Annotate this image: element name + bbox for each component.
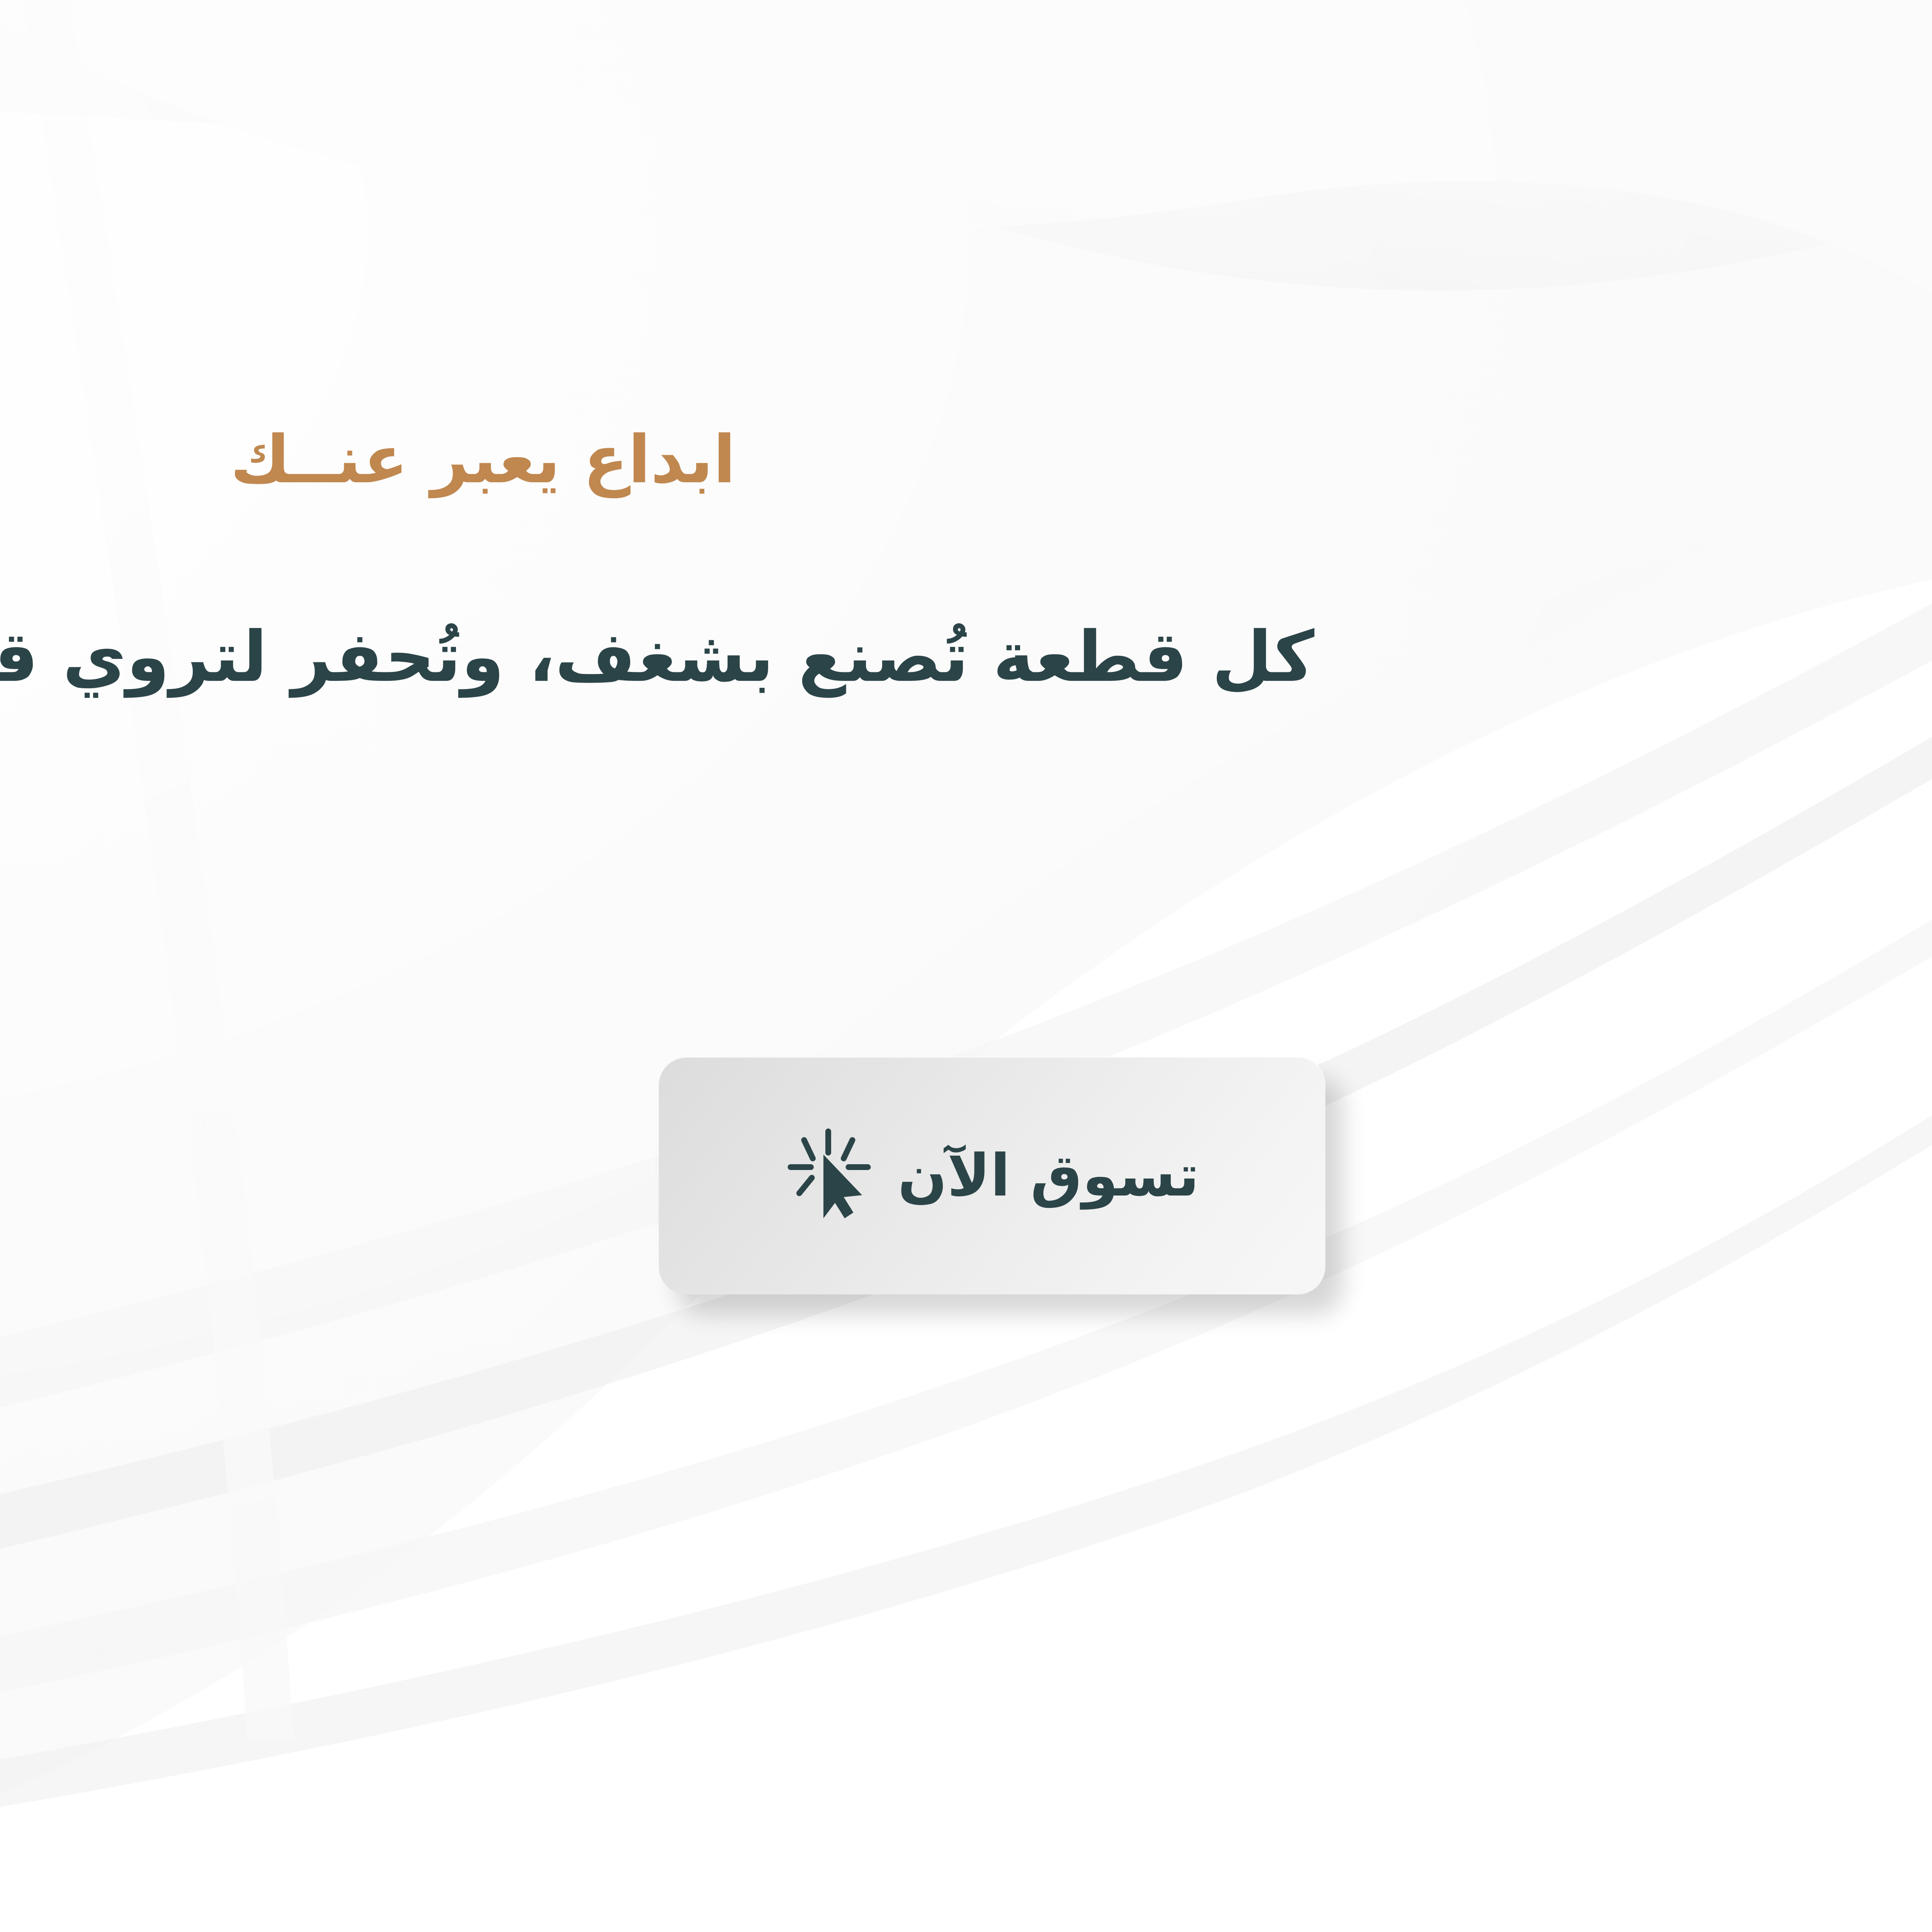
promo-banner: ابداع يعبر عنــك كل قطعة تُصنع بشغف، وتُ…	[0, 0, 1932, 1932]
page-title: ابداع يعبر عنــك	[0, 421, 1932, 499]
shop-now-label: تسوق الآن	[898, 1147, 1199, 1205]
page-subtitle: كل قطعة تُصنع بشغف، وتُحفر لتروي قصتك أن…	[0, 615, 1932, 700]
background-waves	[0, 0, 1932, 1932]
shop-now-button[interactable]: تسوق الآن	[659, 1057, 1325, 1294]
click-cursor-icon	[785, 1128, 874, 1224]
headline-group: ابداع يعبر عنــك كل قطعة تُصنع بشغف، وتُ…	[0, 421, 1932, 699]
